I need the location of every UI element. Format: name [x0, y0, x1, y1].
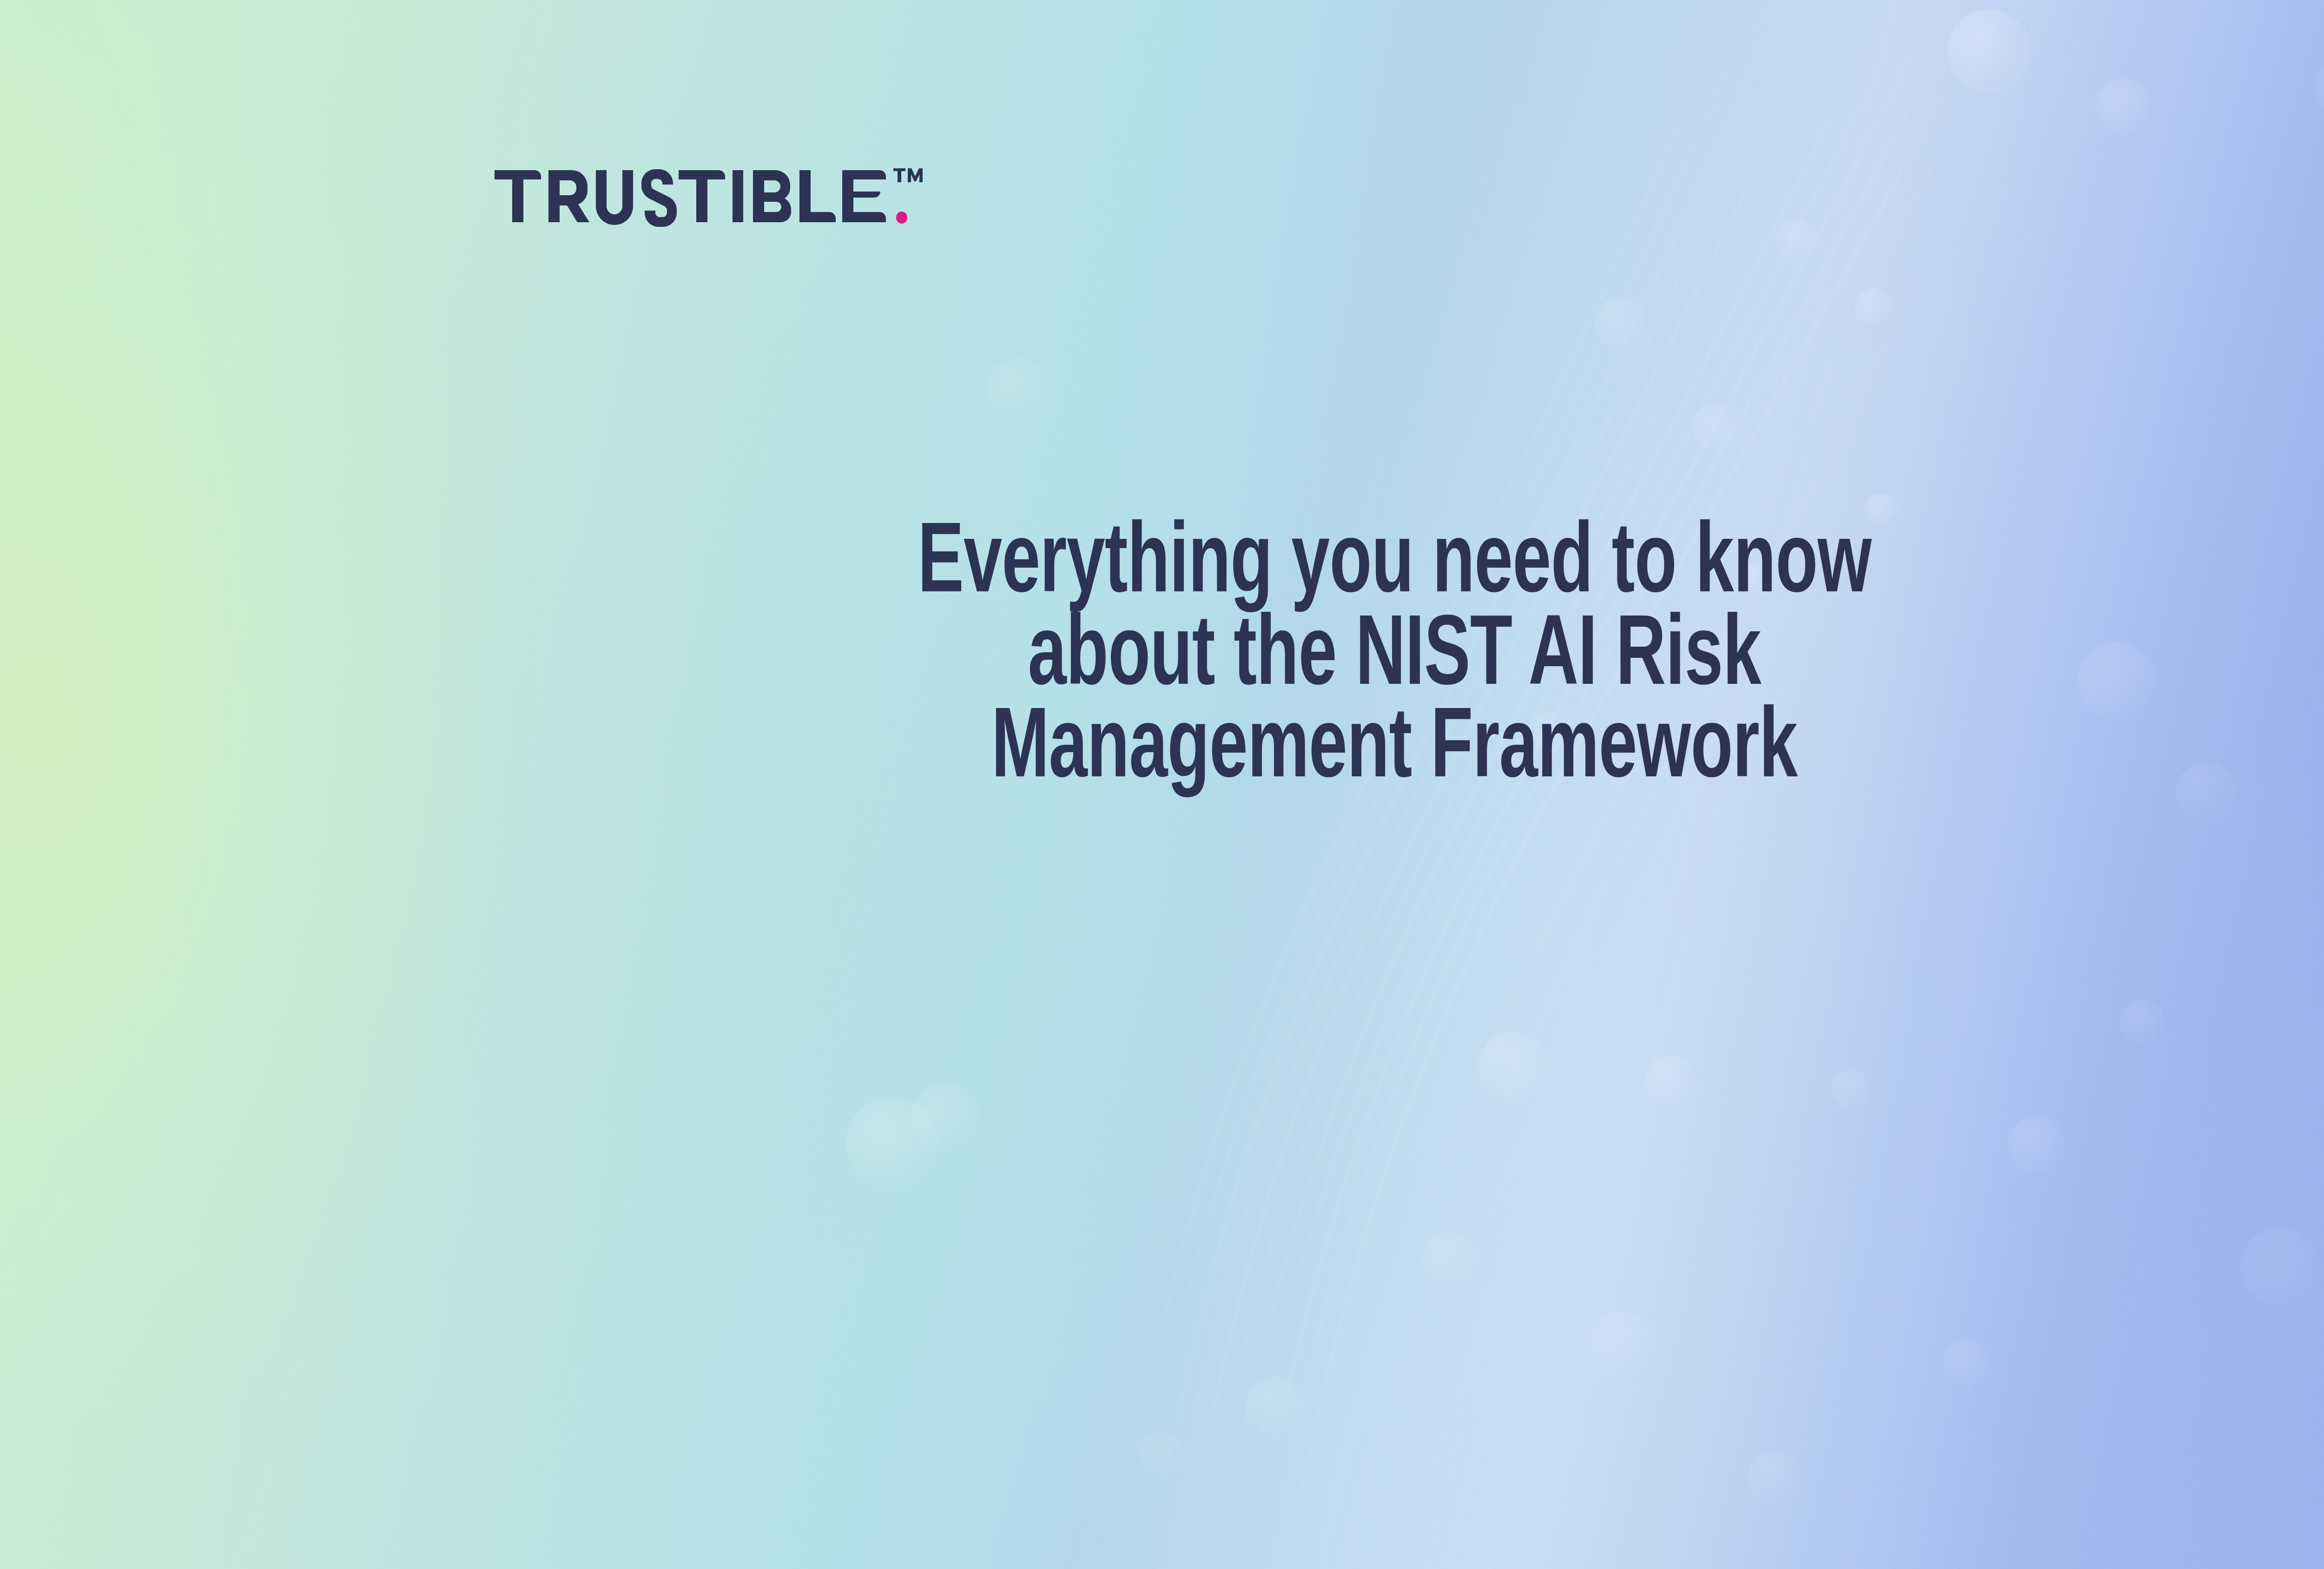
trademark-symbol [893, 168, 923, 182]
page-title-line-1: Everything you need to know [441, 520, 2324, 612]
title-slide: TRUSTIBLE TM . Everything you need to kn… [0, 0, 2324, 1569]
logo-accent-dot [896, 212, 907, 224]
page-title-line-2: about the NIST AI Risk [441, 612, 2324, 704]
trustible-logo[interactable]: TRUSTIBLE TM . [493, 157, 939, 232]
trustible-logo-mark [493, 157, 939, 232]
page-title: Everything you need to know about the NI… [0, 520, 2324, 797]
trustible-wordmark-glyphs [495, 169, 886, 227]
page-title-line-3: Management Framework [441, 705, 2324, 797]
